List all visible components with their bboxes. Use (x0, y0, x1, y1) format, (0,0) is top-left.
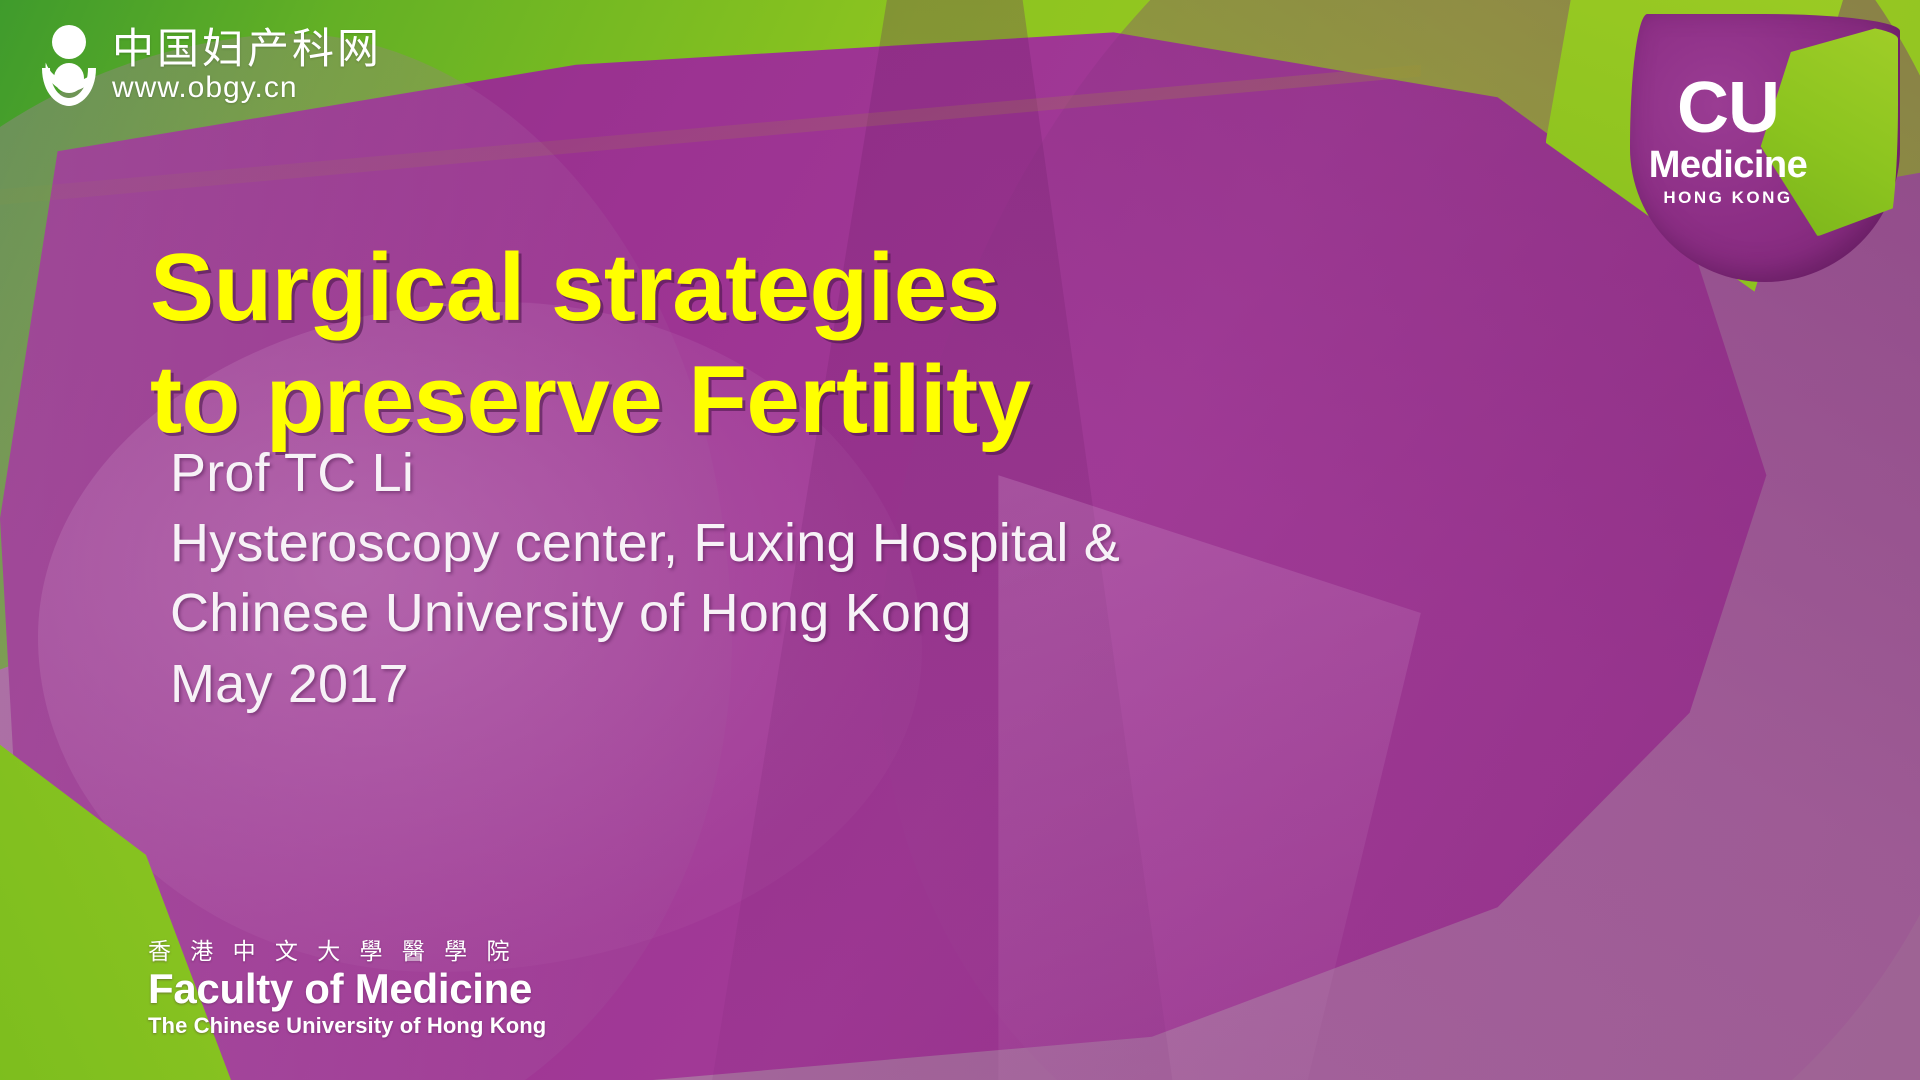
slide-subtitle: Prof TC Li Hysteroscopy center, Fuxing H… (170, 438, 1650, 719)
cu-medicine-logo: CU Medicine HONG KONG (1630, 14, 1900, 282)
cu-logo-text: CU Medicine HONG KONG (1630, 72, 1826, 206)
slide-title: Surgical strategies to preserve Fertilit… (150, 232, 1570, 455)
cu-logo-abbrev: CU (1630, 72, 1826, 144)
watermark-chinese-label: 中国妇产科网 (112, 28, 382, 70)
subtitle-line-date: May 2017 (170, 649, 1650, 719)
faculty-name: Faculty of Medicine (148, 966, 546, 1011)
subtitle-line-affiliation-2: Chinese University of Hong Kong (170, 578, 1650, 648)
faculty-of-medicine-logo: 香 港 中 文 大 學 醫 學 院 Faculty of Medicine Th… (148, 940, 546, 1038)
presentation-slide: 中国妇产科网 www.obgy.cn CU Medicine HONG KONG… (0, 0, 1920, 1080)
cu-logo-word: Medicine (1630, 146, 1826, 184)
watermark-url-label: www.obgy.cn (112, 72, 382, 104)
watermark-text: 中国妇产科网 www.obgy.cn (112, 22, 382, 104)
subtitle-line-presenter: Prof TC Li (170, 438, 1650, 508)
title-line-1: Surgical strategies (150, 232, 1570, 343)
faculty-chinese-name: 香 港 中 文 大 學 醫 學 院 (148, 940, 546, 965)
mother-and-child-icon (38, 22, 100, 108)
obgy-watermark: 中国妇产科网 www.obgy.cn (38, 22, 382, 108)
faculty-university-name: The Chinese University of Hong Kong (148, 1014, 546, 1038)
subtitle-line-affiliation-1: Hysteroscopy center, Fuxing Hospital & (170, 508, 1650, 578)
cu-logo-location: HONG KONG (1630, 189, 1826, 206)
